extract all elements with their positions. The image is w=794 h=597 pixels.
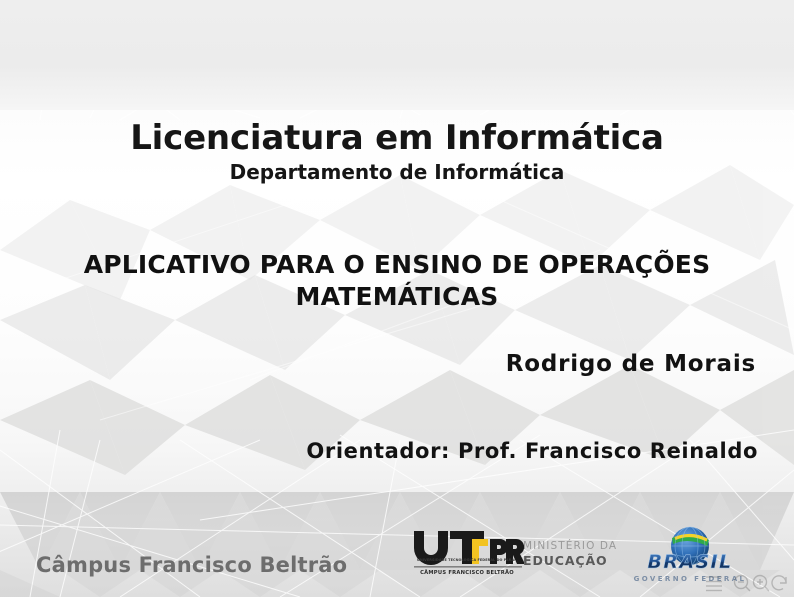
utfpr-campus-text: CÂMPUS FRANCISCO BELTRÃO (413, 570, 521, 576)
advisor-name: Orientador: Prof. Francisco Reinaldo (0, 439, 758, 463)
department-title: Departamento de Informática (0, 160, 794, 184)
course-title: Licenciatura em Informática (0, 118, 794, 158)
ministry-of-education-logo: MINISTÉRIO DA EDUCAÇÃO (523, 540, 617, 568)
zoom-in-icon (754, 576, 770, 592)
campus-label: Câmpus Francisco Beltrão (36, 553, 347, 577)
author-name: Rodrigo de Morais (0, 351, 756, 377)
presentation-slide: Licenciatura em Informática Departamento… (0, 0, 794, 597)
page-title: APLICATIVO PARA O ENSINO DE OPERAÇÕES MA… (60, 249, 734, 313)
rotate-icon (772, 576, 786, 590)
mec-line-2: EDUCAÇÃO (523, 553, 617, 568)
utfpr-logo-icon (412, 530, 524, 570)
slide-header-band (0, 0, 794, 110)
brasil-government-logo-icon: BRASIL (627, 526, 753, 578)
utfpr-subtitle: UNIVERSIDADE TECNOLÓGICA FEDERAL DO PARA… (417, 558, 515, 562)
viewer-toolbar[interactable] (702, 572, 790, 594)
zoom-out-icon (735, 576, 751, 592)
mec-line-1: MINISTÉRIO DA (523, 540, 617, 552)
svg-text:BRASIL: BRASIL (647, 551, 732, 573)
menu-icon (706, 577, 722, 591)
